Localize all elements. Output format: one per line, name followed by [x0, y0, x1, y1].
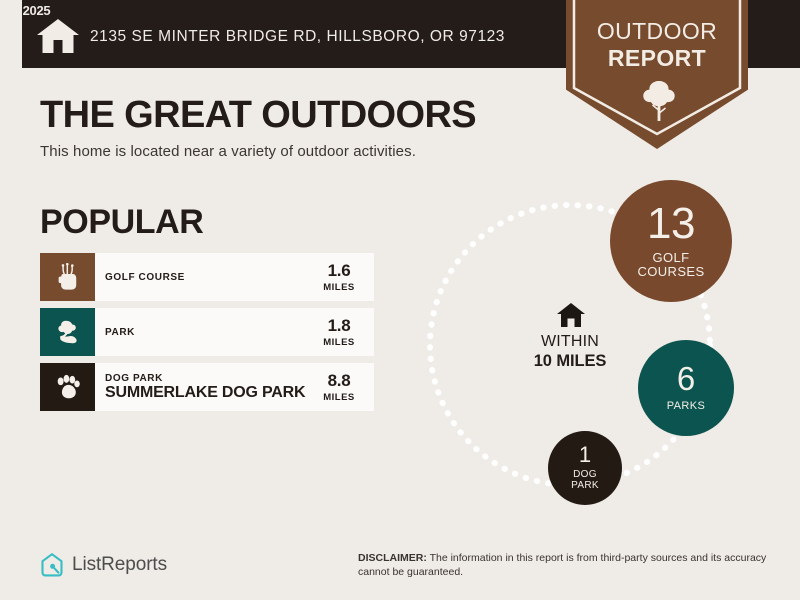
list-item-category: DOG PARK — [105, 373, 312, 384]
list-item-distance: 1.6 MILES — [312, 253, 374, 301]
distance-unit: MILES — [323, 337, 355, 348]
stat-label: DOG PARK — [571, 469, 599, 491]
popular-list: GOLF COURSE 1.6 MILES PARK 1.8 MILES — [40, 253, 374, 418]
list-item-category: GOLF COURSE — [105, 272, 312, 283]
list-item[interactable]: DOG PARK SUMMERLAKE DOG PARK 8.8 MILES — [40, 363, 374, 411]
stat-label: PARKS — [667, 400, 705, 412]
listreports-house-tag-icon — [40, 552, 64, 578]
page-title: THE GREAT OUTDOORS — [40, 94, 476, 137]
distance-value: 1.8 — [328, 316, 351, 336]
stat-circle-parks[interactable]: 6 PARKS — [638, 340, 734, 436]
stat-label-line2: PARK — [571, 480, 599, 491]
list-item-text: PARK — [95, 308, 312, 356]
within-line1: WITHIN — [490, 333, 650, 351]
stat-label-line1: DOG — [573, 469, 597, 480]
stat-value: 13 — [647, 204, 695, 244]
distance-value: 1.6 — [328, 261, 351, 281]
within-radius-label: WITHIN 10 MILES — [490, 333, 650, 371]
badge-title: OUTDOOR REPORT — [566, 18, 748, 72]
list-item-name: SUMMERLAKE DOG PARK — [105, 384, 312, 402]
tree-icon — [640, 80, 678, 122]
stat-value: 6 — [677, 364, 695, 394]
stat-circle-golf-courses[interactable]: 13 GOLF COURSES — [610, 180, 732, 302]
stat-label-line2: COURSES — [637, 264, 704, 279]
page-subtitle: This home is located near a variety of o… — [40, 143, 416, 160]
list-item-distance: 8.8 MILES — [312, 363, 374, 411]
house-icon — [556, 302, 586, 328]
paw-print-icon — [40, 363, 95, 411]
badge-title-line1: OUTDOOR — [597, 18, 717, 44]
list-item-text: DOG PARK SUMMERLAKE DOG PARK — [95, 363, 312, 411]
distance-unit: MILES — [323, 282, 355, 293]
list-item-distance: 1.8 MILES — [312, 308, 374, 356]
disclaimer-label: DISCLAIMER: — [358, 552, 427, 564]
copyright-label: © 2025 — [10, 3, 50, 18]
house-icon — [36, 18, 80, 54]
list-item-text: GOLF COURSE — [95, 253, 312, 301]
list-item-category: PARK — [105, 327, 312, 338]
disclaimer: DISCLAIMER: The information in this repo… — [358, 552, 768, 579]
within-line2: 10 MILES — [490, 352, 650, 371]
golf-bag-icon — [40, 253, 95, 301]
popular-section-heading: POPULAR — [40, 203, 203, 242]
list-item[interactable]: GOLF COURSE 1.6 MILES — [40, 253, 374, 301]
list-item[interactable]: PARK 1.8 MILES — [40, 308, 374, 356]
stat-label-line1: GOLF — [653, 250, 690, 265]
listreports-logo-text: ListReports — [72, 554, 167, 576]
badge-title-line2: REPORT — [566, 45, 748, 72]
stat-value: 1 — [579, 445, 591, 465]
property-address: 2135 SE MINTER BRIDGE RD, HILLSBORO, OR … — [90, 28, 505, 46]
distance-unit: MILES — [323, 392, 355, 403]
distance-value: 8.8 — [328, 371, 351, 391]
listreports-logo[interactable]: ListReports — [40, 552, 167, 578]
stat-circle-dog-parks[interactable]: 1 DOG PARK — [548, 431, 622, 505]
stat-label: GOLF COURSES — [637, 251, 704, 279]
tree-park-icon — [40, 308, 95, 356]
